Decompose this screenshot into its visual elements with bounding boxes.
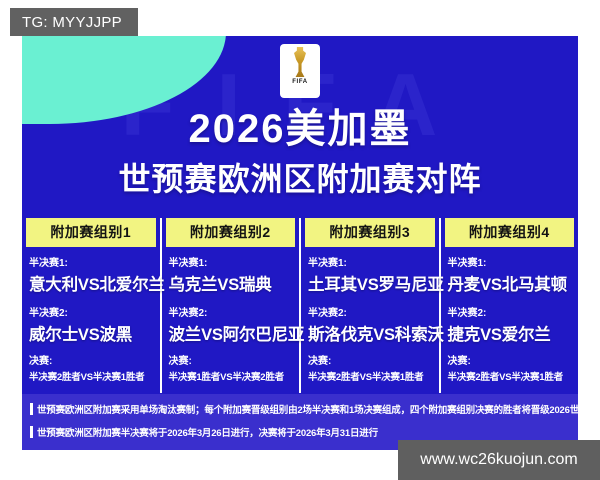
semifinal-1-matchup: 丹麦VS北马其顿 bbox=[448, 271, 574, 295]
final-matchup: 半决赛2胜者VS半决赛1胜者 bbox=[29, 369, 155, 383]
footnote-text: 世预赛欧洲区附加赛半决赛将于2026年3月26日进行，决赛将于2026年3月31… bbox=[37, 425, 378, 439]
poster-header: FIFA 2026美加墨 世预赛欧洲区附加赛对阵 bbox=[22, 36, 578, 221]
final-label: 决赛: bbox=[169, 352, 295, 367]
group-body: 半决赛1: 土耳其VS罗马尼亚 半决赛2: 斯洛伐克VS科索沃 决赛: 半决赛2… bbox=[301, 247, 439, 393]
group-body: 半决赛1: 乌克兰VS瑞典 半决赛2: 波兰VS阿尔巴尼亚 决赛: 半决赛1胜者… bbox=[162, 247, 300, 393]
group-title: 附加赛组别3 bbox=[305, 218, 435, 247]
group-title: 附加赛组别4 bbox=[445, 218, 575, 247]
bullet-bar-icon bbox=[30, 426, 33, 438]
group-body: 半决赛1: 丹麦VS北马其顿 半决赛2: 捷克VS爱尔兰 决赛: 半决赛2胜者V… bbox=[441, 247, 579, 393]
final-matchup: 半决赛1胜者VS半决赛2胜者 bbox=[169, 369, 295, 383]
semifinal-1-label: 半决赛1: bbox=[169, 254, 295, 269]
semifinal-1-label: 半决赛1: bbox=[308, 254, 434, 269]
semifinal-1-matchup: 乌克兰VS瑞典 bbox=[169, 271, 295, 295]
site-url-watermark: www.wc26kuojun.com bbox=[398, 440, 600, 480]
playoff-group-3: 附加赛组别3 半决赛1: 土耳其VS罗马尼亚 半决赛2: 斯洛伐克VS科索沃 决… bbox=[301, 218, 441, 393]
semifinal-1-label: 半决赛1: bbox=[29, 254, 155, 269]
semifinal-1-matchup: 意大利VS北爱尔兰 bbox=[29, 271, 155, 295]
group-title: 附加赛组别2 bbox=[166, 218, 296, 247]
semifinal-2-label: 半决赛2: bbox=[169, 304, 295, 319]
semifinal-2-label: 半决赛2: bbox=[448, 304, 574, 319]
semifinal-1-matchup: 土耳其VS罗马尼亚 bbox=[308, 271, 434, 295]
semifinal-2-matchup: 斯洛伐克VS科索沃 bbox=[308, 321, 434, 345]
semifinal-2-matchup: 捷克VS爱尔兰 bbox=[448, 321, 574, 345]
page-title-secondary: 世预赛欧洲区附加赛对阵 bbox=[22, 154, 578, 200]
tg-channel-badge: TG: MYYJJPP bbox=[10, 8, 138, 36]
trophy-glyph bbox=[294, 47, 307, 77]
fifa-logo-label: FIFA bbox=[292, 79, 307, 85]
semifinal-2-matchup: 波兰VS阿尔巴尼亚 bbox=[169, 321, 295, 345]
tg-channel-label: TG: MYYJJPP bbox=[22, 14, 122, 31]
footnote-text: 世预赛欧洲区附加赛采用单场淘汰赛制；每个附加赛晋级组别由2场半决赛和1场决赛组成… bbox=[37, 402, 578, 416]
final-matchup: 半决赛2胜者VS半决赛1胜者 bbox=[448, 369, 574, 383]
playoff-group-4: 附加赛组别4 半决赛1: 丹麦VS北马其顿 半决赛2: 捷克VS爱尔兰 决赛: … bbox=[441, 218, 579, 393]
playoff-group-2: 附加赛组别2 半决赛1: 乌克兰VS瑞典 半决赛2: 波兰VS阿尔巴尼亚 决赛:… bbox=[162, 218, 302, 393]
semifinal-2-matchup: 威尔士VS波黑 bbox=[29, 321, 155, 345]
semifinal-2-label: 半决赛2: bbox=[308, 304, 434, 319]
page-title-primary: 2026美加墨 bbox=[22, 96, 578, 154]
semifinal-1-label: 半决赛1: bbox=[448, 254, 574, 269]
poster-panel: FIFA FIFA 2026美加墨 世预赛欧洲区附加赛对阵 附加赛组别1 半决赛… bbox=[22, 36, 578, 450]
footnote-row: 世预赛欧洲区附加赛半决赛将于2026年3月26日进行，决赛将于2026年3月31… bbox=[30, 425, 578, 439]
final-label: 决赛: bbox=[448, 352, 574, 367]
bullet-bar-icon bbox=[30, 403, 33, 415]
final-label: 决赛: bbox=[29, 352, 155, 367]
final-matchup: 半决赛2胜者VS半决赛1胜者 bbox=[308, 369, 434, 383]
final-label: 决赛: bbox=[308, 352, 434, 367]
footnote-row: 世预赛欧洲区附加赛采用单场淘汰赛制；每个附加赛晋级组别由2场半决赛和1场决赛组成… bbox=[30, 402, 578, 416]
playoff-group-1: 附加赛组别1 半决赛1: 意大利VS北爱尔兰 半决赛2: 威尔士VS波黑 决赛:… bbox=[22, 218, 162, 393]
playoff-bracket: 附加赛组别1 半决赛1: 意大利VS北爱尔兰 半决赛2: 威尔士VS波黑 决赛:… bbox=[22, 218, 578, 393]
group-title: 附加赛组别1 bbox=[26, 218, 156, 247]
fifa-world-cup-trophy-icon: FIFA bbox=[280, 44, 320, 98]
semifinal-2-label: 半决赛2: bbox=[29, 304, 155, 319]
group-body: 半决赛1: 意大利VS北爱尔兰 半决赛2: 威尔士VS波黑 决赛: 半决赛2胜者… bbox=[22, 247, 160, 393]
